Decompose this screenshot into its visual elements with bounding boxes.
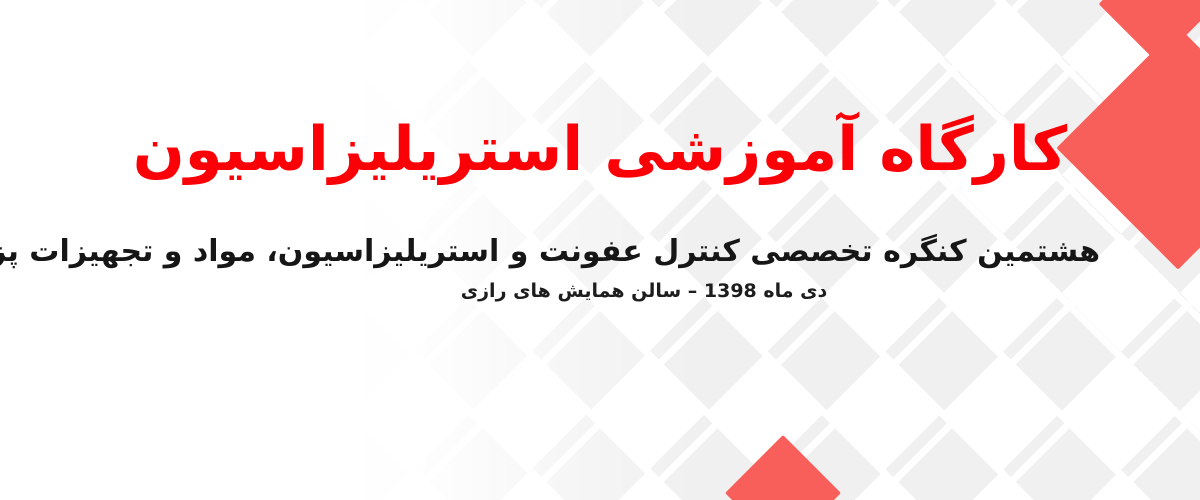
banner-title: کارگاه آموزشی استریلیزاسیون bbox=[100, 118, 1100, 182]
banner-subtitle: هشتمین کنگره تخصصی کنترل عفونت و استریلی… bbox=[100, 232, 1100, 271]
banner-content: کارگاه آموزشی استریلیزاسیون هشتمین کنگره… bbox=[0, 0, 1200, 500]
event-banner: کارگاه آموزشی استریلیزاسیون هشتمین کنگره… bbox=[0, 0, 1200, 500]
banner-venue-date: دی ماه 1398 – سالن همایش های رازی bbox=[100, 279, 1100, 304]
